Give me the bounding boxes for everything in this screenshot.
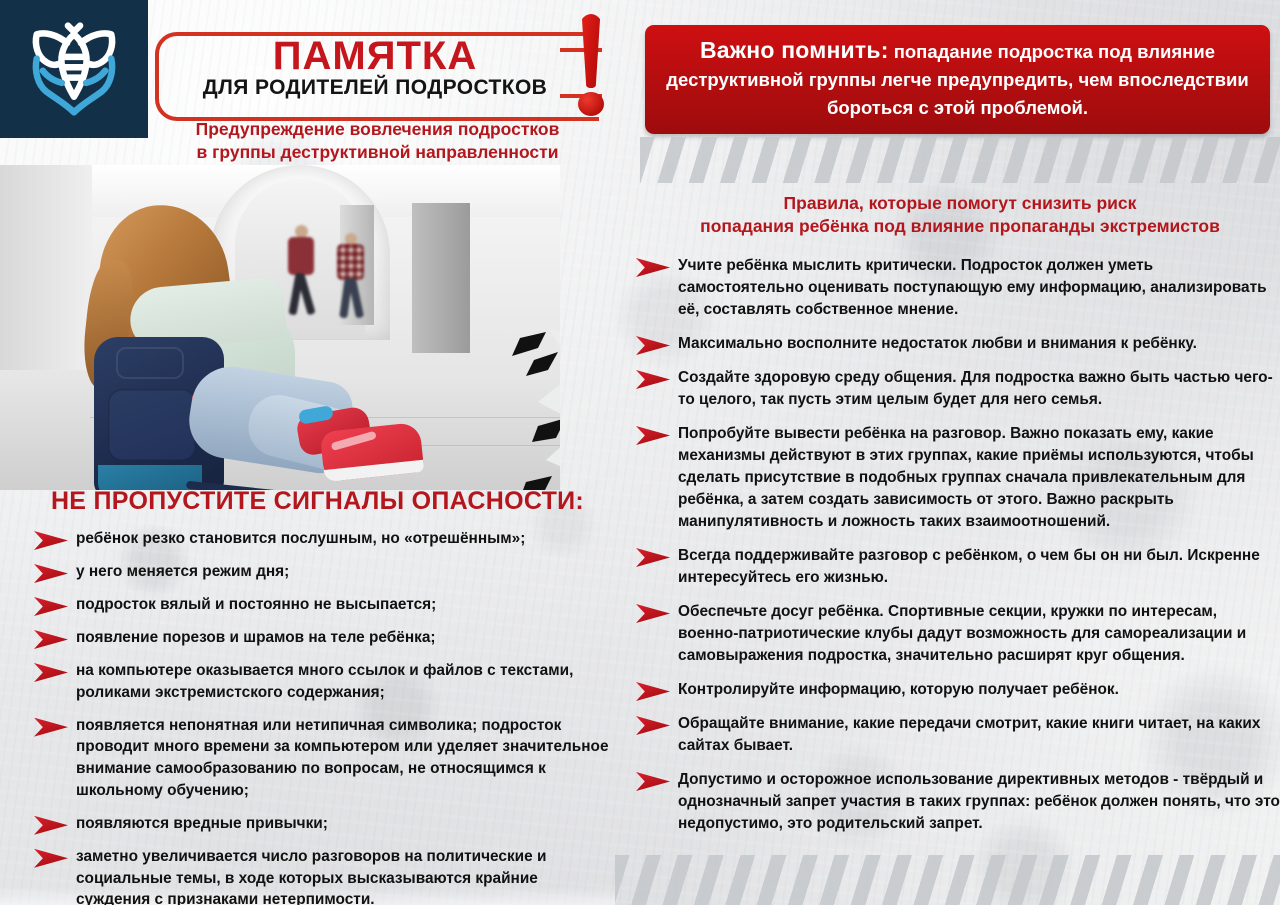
photo-shoe-front xyxy=(320,422,425,482)
rules-heading-line-1: Правила, которые помогут снизить риск xyxy=(640,192,1280,215)
arrow-bullet-icon xyxy=(636,772,670,791)
list-item: появляются вредные привычки; xyxy=(34,813,614,835)
list-item: появление порезов и шрамов на теле ребён… xyxy=(34,627,614,649)
rules-heading: Правила, которые помогут снизить риск по… xyxy=(640,192,1280,238)
header-description: Предупреждение вовлечения подростков в г… xyxy=(150,118,605,164)
list-item-text: появление порезов и шрамов на теле ребён… xyxy=(76,627,436,649)
list-item: Максимально восполните недостаток любви … xyxy=(636,333,1280,355)
list-item-text: Обращайте внимание, какие передачи смотр… xyxy=(678,713,1280,757)
arrow-bullet-icon xyxy=(34,564,68,583)
list-item-text: Всегда поддерживайте разговор с ребёнком… xyxy=(678,545,1280,589)
arrow-bullet-icon xyxy=(34,630,68,649)
page-subtitle: ДЛЯ РОДИТЕЛЕЙ ПОДРОСТКОВ xyxy=(155,76,595,100)
list-item-text: Обеспечьте досуг ребёнка. Спортивные сек… xyxy=(678,601,1280,667)
arrow-bullet-icon xyxy=(636,336,670,355)
list-item-text: Учите ребёнка мыслить критически. Подрос… xyxy=(678,255,1280,321)
arrow-bullet-icon xyxy=(636,370,670,389)
exclamation-dot-icon xyxy=(578,92,604,116)
hero-photo xyxy=(0,165,560,490)
list-item: Обеспечьте досуг ребёнка. Спортивные сек… xyxy=(636,601,1280,667)
list-item-text: Контролируйте информацию, которую получа… xyxy=(678,679,1119,701)
list-item: Обращайте внимание, какие передачи смотр… xyxy=(636,713,1280,757)
list-item-text: Попробуйте вывести ребёнка на разговор. … xyxy=(678,423,1280,533)
list-item-text: ребёнок резко становится послушным, но «… xyxy=(76,528,525,550)
photo-sitting-teenager xyxy=(70,205,370,485)
list-item: Контролируйте информацию, которую получа… xyxy=(636,679,1280,701)
arrow-bullet-icon xyxy=(636,604,670,623)
organization-logo xyxy=(0,0,148,138)
list-item-text: у него меняется режим дня; xyxy=(76,561,289,583)
decorative-stripes-top xyxy=(640,137,1280,183)
list-item: заметно увеличивается число разговоров н… xyxy=(34,846,614,905)
list-item-text: появляются вредные привычки; xyxy=(76,813,328,835)
page-title: ПАМЯТКА xyxy=(155,34,595,78)
list-item: Создайте здоровую среду общения. Для под… xyxy=(636,367,1280,411)
danger-signals-heading: НЕ ПРОПУСТИТЕ СИГНАЛЫ ОПАСНОСТИ: xyxy=(20,487,615,516)
arrow-bullet-icon xyxy=(34,718,68,737)
photo-door xyxy=(412,203,470,353)
arrow-bullet-icon xyxy=(636,716,670,735)
list-item: Допустимо и осторожное использование дир… xyxy=(636,769,1280,835)
arrow-bullet-icon xyxy=(34,849,68,868)
arrow-bullet-icon xyxy=(34,816,68,835)
list-item: у него меняется режим дня; xyxy=(34,561,614,583)
arrow-bullet-icon xyxy=(636,426,670,445)
arrow-bullet-icon xyxy=(34,663,68,682)
list-item: Учите ребёнка мыслить критически. Подрос… xyxy=(636,255,1280,321)
list-item-text: подросток вялый и постоянно не высыпаетс… xyxy=(76,594,436,616)
list-item: Попробуйте вывести ребёнка на разговор. … xyxy=(636,423,1280,533)
list-item-text: Создайте здоровую среду общения. Для под… xyxy=(678,367,1280,411)
list-item: ребёнок резко становится послушным, но «… xyxy=(34,528,614,550)
rules-heading-line-2: попадания ребёнка под влияние пропаганды… xyxy=(640,215,1280,238)
list-item-text: заметно увеличивается число разговоров н… xyxy=(76,846,614,905)
list-item: появляется непонятная или нетипичная сим… xyxy=(34,715,614,802)
arrow-bullet-icon xyxy=(34,597,68,616)
list-item: на компьютере оказывается много ссылок и… xyxy=(34,660,614,704)
arrow-bullet-icon xyxy=(636,258,670,277)
header-description-line-1: Предупреждение вовлечения подростков xyxy=(150,118,605,141)
arrow-bullet-icon xyxy=(34,531,68,550)
list-item-text: на компьютере оказывается много ссылок и… xyxy=(76,660,614,704)
important-notice-banner: Важно помнить: попадание подростка под в… xyxy=(645,25,1270,134)
important-notice-label: Важно помнить: xyxy=(700,37,889,63)
rules-list: Учите ребёнка мыслить критически. Подрос… xyxy=(636,255,1280,847)
bee-shield-icon xyxy=(22,17,126,121)
list-item: подросток вялый и постоянно не высыпаетс… xyxy=(34,594,614,616)
poster-root: ПАМЯТКА ДЛЯ РОДИТЕЛЕЙ ПОДРОСТКОВ Предупр… xyxy=(0,0,1280,905)
important-notice-text: Важно помнить: попадание подростка под в… xyxy=(645,37,1270,123)
list-item: Всегда поддерживайте разговор с ребёнком… xyxy=(636,545,1280,589)
list-item-text: появляется непонятная или нетипичная сим… xyxy=(76,715,614,802)
decorative-stripes-bottom xyxy=(615,855,1280,905)
arrow-bullet-icon xyxy=(636,682,670,701)
arrow-bullet-icon xyxy=(636,548,670,567)
header-description-line-2: в группы деструктивной направленности xyxy=(150,141,605,164)
list-item-text: Максимально восполните недостаток любви … xyxy=(678,333,1197,355)
danger-signals-list: ребёнок резко становится послушным, но «… xyxy=(34,528,614,905)
list-item-text: Допустимо и осторожное использование дир… xyxy=(678,769,1280,835)
